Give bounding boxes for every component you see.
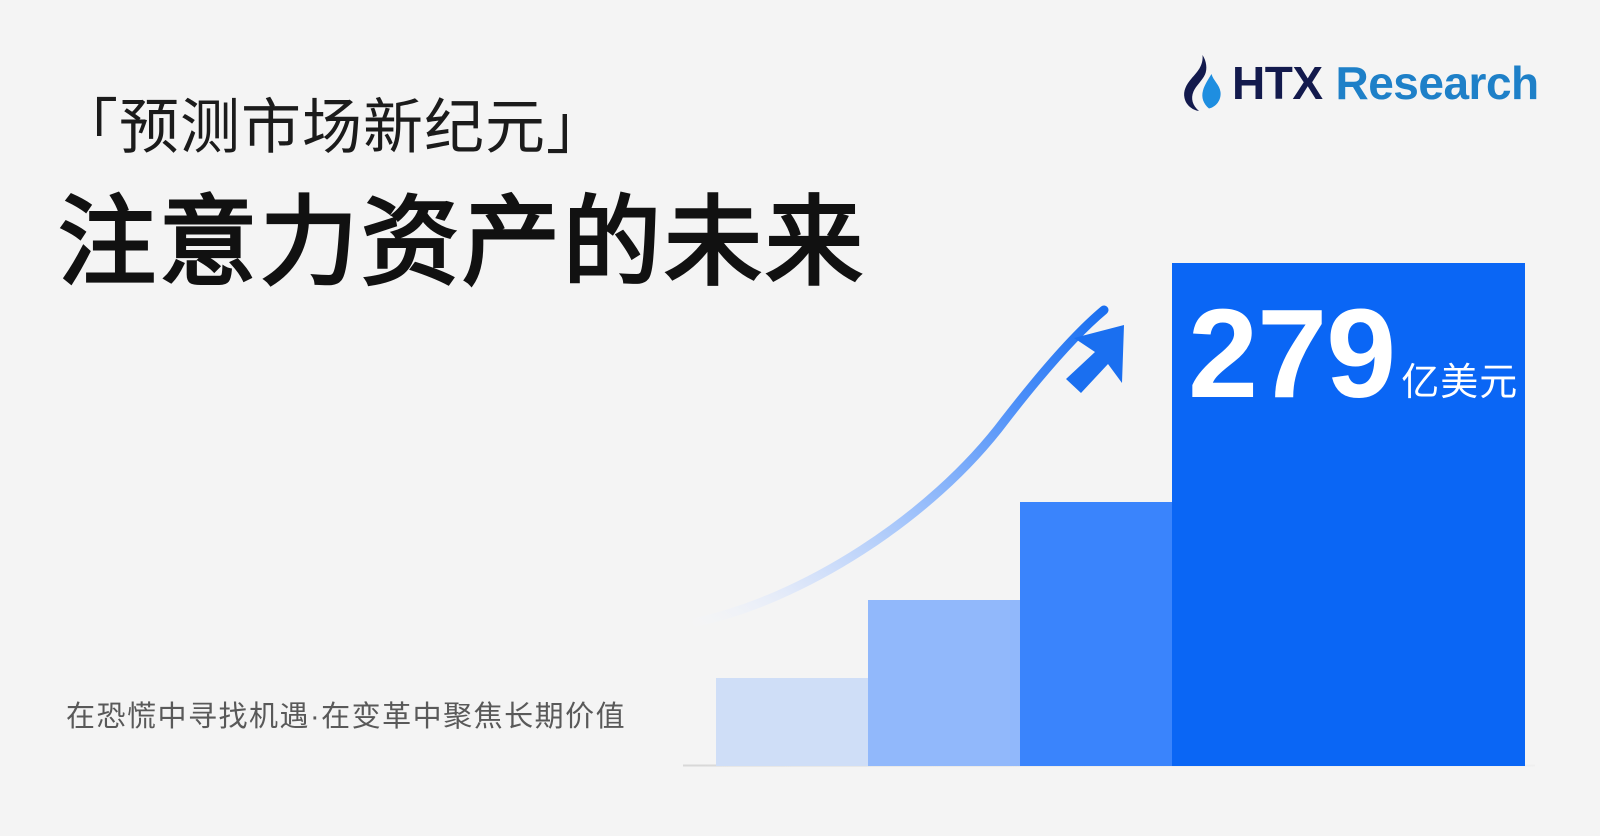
htx-flame-icon (1178, 54, 1224, 112)
brand-research-text: Research (1336, 60, 1539, 106)
brand-wordmark: HTX Research (1232, 60, 1539, 106)
kicker-text: 「预测市场新纪元」 (58, 96, 607, 161)
page-title: 注意力资产的未来 (58, 188, 866, 298)
brand-htx-text: HTX (1232, 60, 1323, 106)
brand-logo[interactable]: HTX Research (1178, 52, 1539, 114)
value-unit: 亿美元 (1401, 364, 1518, 402)
value-number: 279 (1188, 300, 1395, 408)
poster-canvas: 279 亿美元 「预测市场新纪元」 注意力资产的未来 在恐慌中寻找机遇·在变革中… (0, 0, 1600, 836)
bar-1 (716, 678, 868, 766)
growth-arrow-icon (697, 310, 1124, 622)
chart-baseline (683, 765, 1535, 767)
value-callout: 279 亿美元 (1188, 300, 1518, 408)
bar-2 (868, 600, 1020, 766)
bar-3 (1020, 502, 1172, 766)
tagline-text: 在恐慌中寻找机遇·在变革中聚焦长期价值 (66, 700, 626, 735)
